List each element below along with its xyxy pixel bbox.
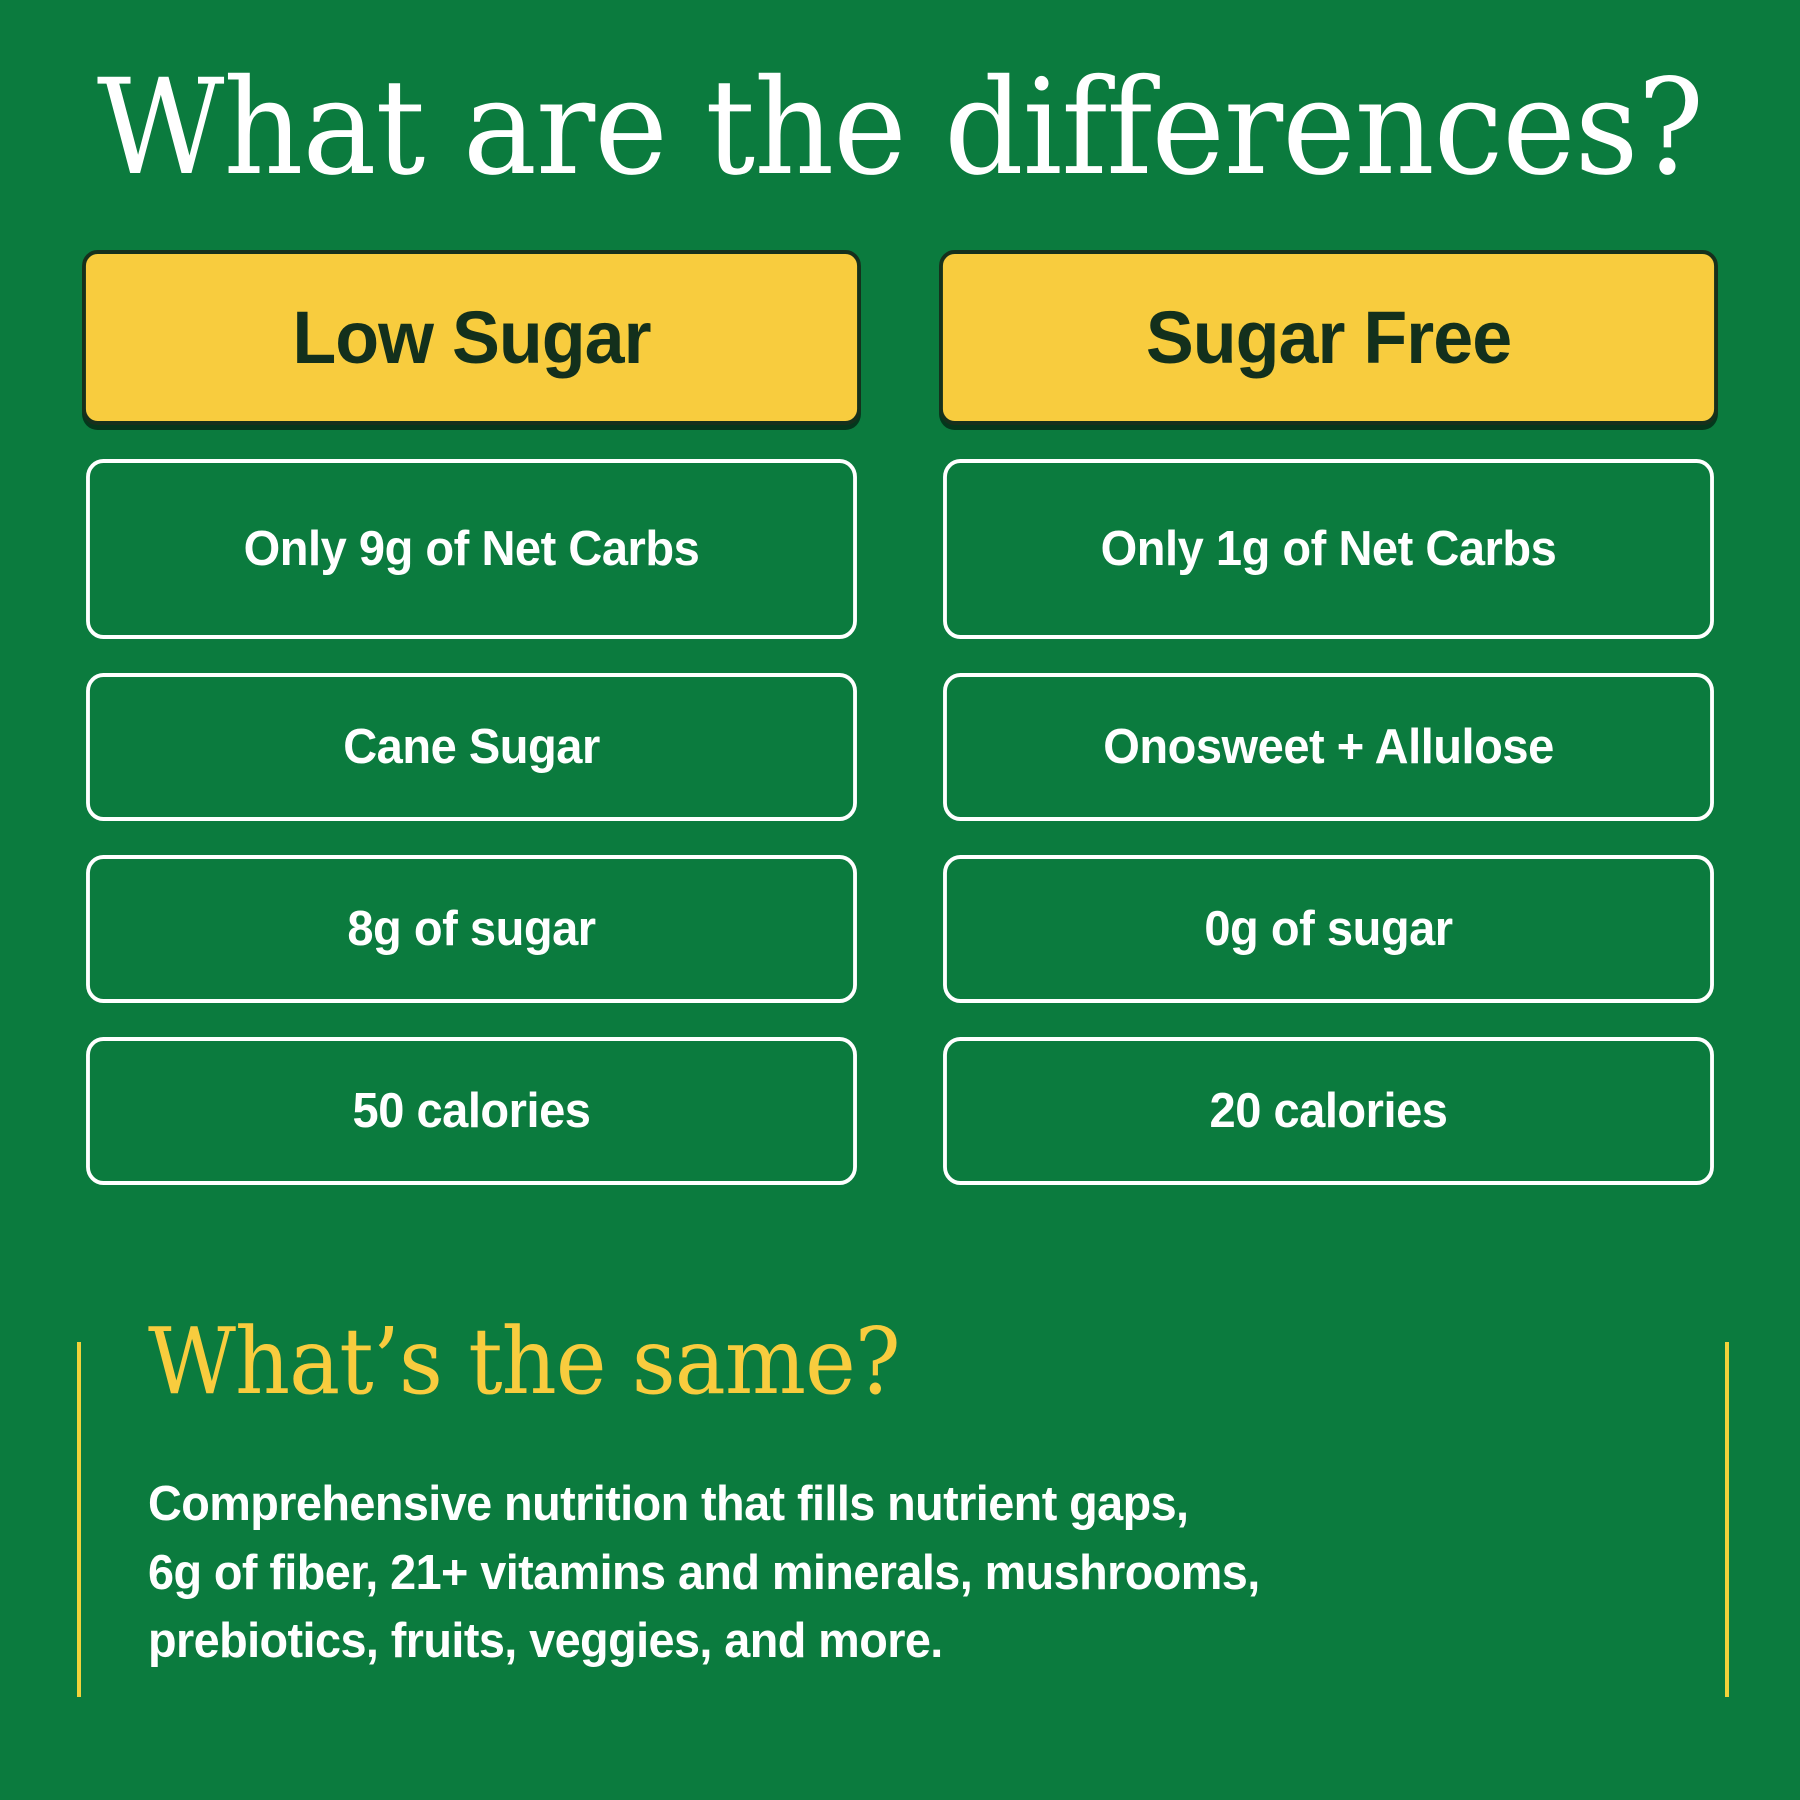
fact-box-sweetener-low-sugar: Cane Sugar	[86, 673, 857, 821]
infographic-page: What are the differences? Low Sugar Only…	[0, 0, 1800, 1800]
body-line-2: 6g of fiber, 21+ vitamins and minerals, …	[148, 1539, 1418, 1608]
whats-the-same-section: What’s the same? Comprehensive nutrition…	[0, 1338, 1800, 1700]
column-header-sugar-free: Sugar Free	[939, 250, 1718, 425]
fact-box-calories-sugar-free: 20 calories	[943, 1037, 1714, 1185]
fact-box-net-carbs-sugar-free: Only 1g of Net Carbs	[943, 459, 1714, 639]
fact-box-net-carbs-low-sugar: Only 9g of Net Carbs	[86, 459, 857, 639]
whats-the-same-body: Comprehensive nutrition that fills nutri…	[148, 1470, 1418, 1676]
comparison-grid: Low Sugar Only 9g of Net Carbs Cane Suga…	[70, 250, 1730, 1185]
body-line-1: Comprehensive nutrition that fills nutri…	[148, 1470, 1418, 1539]
fact-box-sweetener-sugar-free: Onosweet + Allulose	[943, 673, 1714, 821]
fact-box-sugar-sugar-free: 0g of sugar	[943, 855, 1714, 1003]
comparison-column-low-sugar: Low Sugar Only 9g of Net Carbs Cane Suga…	[70, 250, 873, 1185]
right-vertical-rule	[1725, 1342, 1729, 1697]
left-vertical-rule	[77, 1342, 81, 1697]
comparison-column-sugar-free: Sugar Free Only 1g of Net Carbs Onosweet…	[927, 250, 1730, 1185]
column-header-low-sugar: Low Sugar	[82, 250, 861, 425]
fact-box-calories-low-sugar: 50 calories	[86, 1037, 857, 1185]
page-title: What are the differences?	[54, 62, 1746, 194]
whats-the-same-heading: What’s the same?	[148, 1316, 900, 1408]
fact-box-sugar-low-sugar: 8g of sugar	[86, 855, 857, 1003]
body-line-3: prebiotics, fruits, veggies, and more.	[148, 1607, 1418, 1676]
